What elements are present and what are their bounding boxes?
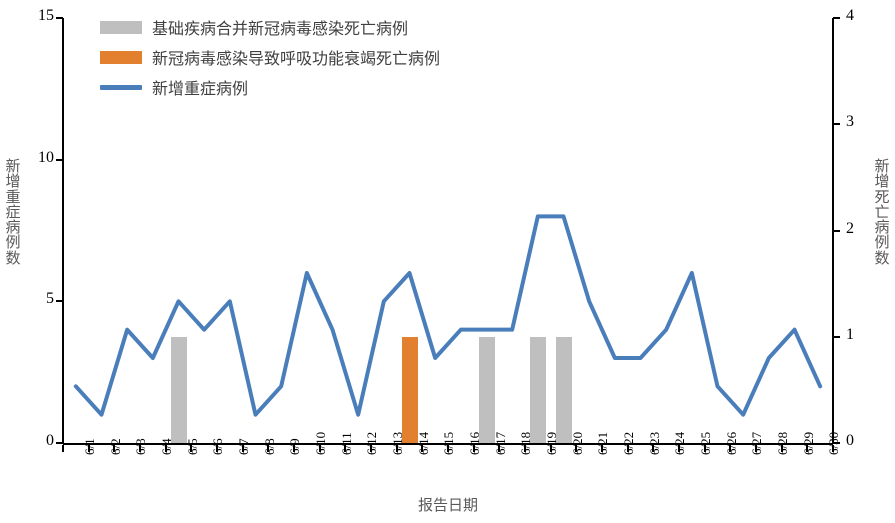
x-tick-label-6-17: 6/17: [493, 432, 509, 455]
left-tick-mark: [56, 159, 63, 161]
legend-swatch-bar-icon: [100, 51, 142, 64]
right-tick-label: 0: [846, 432, 880, 450]
x-tick-mark: [62, 445, 64, 452]
chart-legend: 基础疾病合并新冠病毒感染死亡病例新冠病毒感染导致呼吸功能衰竭死亡病例新增重症病例: [100, 12, 440, 102]
right-axis-title: 新增死亡病例数: [872, 160, 892, 267]
x-tick-label-6-27: 6/27: [749, 432, 765, 455]
left-tick-label: 15: [20, 7, 54, 25]
right-tick-label: 3: [846, 113, 880, 131]
chart-canvas: 新增重症病例数 新增死亡病例数 151050 43210 6/16/26/36/…: [0, 0, 895, 523]
x-tick-label-6-18: 6/18: [518, 432, 534, 455]
x-tick-label-6-6: 6/6: [210, 438, 226, 455]
right-tick-label: 4: [846, 7, 880, 25]
right-tick-mark: [833, 336, 840, 338]
x-tick-label-6-25: 6/25: [698, 432, 714, 455]
legend-swatch-line-icon: [100, 85, 142, 90]
x-tick-label-6-4: 6/4: [159, 438, 175, 455]
legend-item-label: 新冠病毒感染导致呼吸功能衰竭死亡病例: [152, 45, 440, 69]
x-axis-title: 报告日期: [63, 494, 833, 515]
legend-item-label: 基础疾病合并新冠病毒感染死亡病例: [152, 15, 408, 39]
x-tick-label-6-30: 6/30: [826, 432, 842, 455]
x-tick-label-6-14: 6/14: [416, 432, 432, 455]
legend-item-1[interactable]: 基础疾病合并新冠病毒感染死亡病例: [100, 12, 440, 42]
x-tick-label-6-24: 6/24: [672, 432, 688, 455]
x-tick-label-6-7: 6/7: [236, 438, 252, 455]
left-tick-mark: [56, 442, 63, 444]
x-tick-label-6-12: 6/12: [364, 432, 380, 455]
x-tick-label-6-29: 6/29: [801, 432, 817, 455]
x-tick-label-6-11: 6/11: [339, 432, 355, 455]
x-tick-label-6-5: 6/5: [185, 438, 201, 455]
right-tick-mark: [833, 17, 840, 19]
x-tick-label-6-1: 6/1: [82, 438, 98, 455]
x-tick-label-6-16: 6/16: [467, 432, 483, 455]
right-tick-mark: [833, 230, 840, 232]
x-tick-label-6-15: 6/15: [441, 432, 457, 455]
left-tick-mark: [56, 300, 63, 302]
right-tick-label: 2: [846, 220, 880, 238]
left-axis-title: 新增重症病例数: [3, 160, 23, 267]
line-series-path: [76, 216, 820, 414]
x-tick-label-6-20: 6/20: [570, 432, 586, 455]
x-tick-label-6-26: 6/26: [724, 432, 740, 455]
left-tick-label: 0: [20, 432, 54, 450]
x-tick-label-6-28: 6/28: [775, 432, 791, 455]
legend-item-2[interactable]: 新冠病毒感染导致呼吸功能衰竭死亡病例: [100, 42, 440, 72]
x-tick-label-6-8: 6/8: [262, 438, 278, 455]
x-tick-label-6-13: 6/13: [390, 432, 406, 455]
x-tick-label-6-19: 6/19: [544, 432, 560, 455]
legend-item-3[interactable]: 新增重症病例: [100, 72, 440, 102]
right-tick-label: 1: [846, 326, 880, 344]
x-tick-label-6-9: 6/9: [287, 438, 303, 455]
legend-item-label: 新增重症病例: [152, 75, 248, 99]
x-tick-label-6-23: 6/23: [647, 432, 663, 455]
x-tick-label-6-2: 6/2: [108, 438, 124, 455]
x-tick-label-6-21: 6/21: [595, 432, 611, 455]
x-tick-label-6-10: 6/10: [313, 432, 329, 455]
x-tick-label-6-22: 6/22: [621, 432, 637, 455]
left-tick-label: 10: [20, 149, 54, 167]
x-tick-label-6-3: 6/3: [133, 438, 149, 455]
left-tick-mark: [56, 17, 63, 19]
right-tick-mark: [833, 123, 840, 125]
legend-swatch-bar-icon: [100, 21, 142, 34]
left-tick-label: 5: [20, 290, 54, 308]
